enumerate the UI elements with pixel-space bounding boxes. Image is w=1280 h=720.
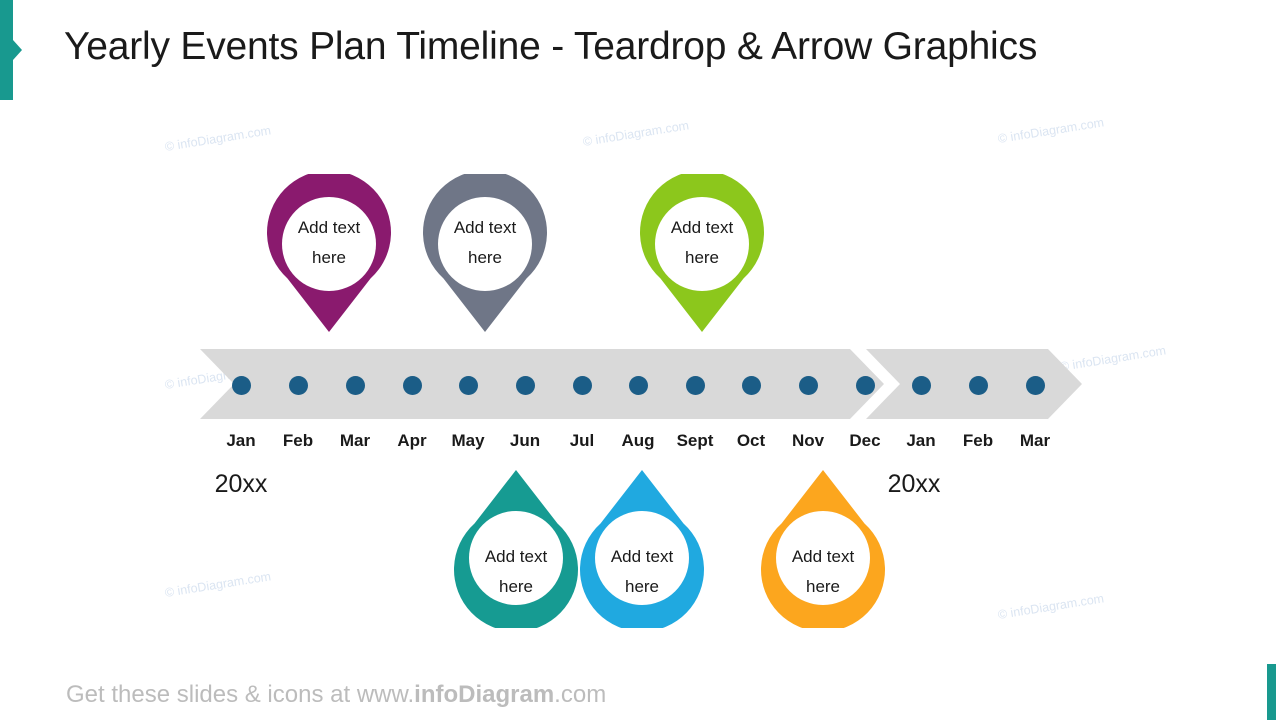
timeline-dot bbox=[629, 376, 648, 395]
timeline-dot bbox=[1026, 376, 1045, 395]
timeline-month-label: Feb bbox=[963, 431, 993, 451]
footer-promo-text: Get these slides & icons at www.infoDiag… bbox=[66, 681, 606, 709]
timeline-month-label: Jan bbox=[906, 431, 935, 451]
pin-gray-teardrop-icon bbox=[415, 174, 555, 336]
timeline-month-label: Jan bbox=[226, 431, 255, 451]
pin-teal-teardrop-icon bbox=[446, 466, 586, 628]
timeline-dot bbox=[289, 376, 308, 395]
footer-suffix: .com bbox=[554, 681, 606, 708]
watermark-text: © infoDiagram.com bbox=[582, 118, 690, 149]
timeline-month-label: Aug bbox=[621, 431, 654, 451]
timeline-month-label: Apr bbox=[397, 431, 426, 451]
timeline-month-label: Mar bbox=[1020, 431, 1050, 451]
footer-prefix: Get these slides & icons at www. bbox=[66, 681, 414, 708]
accent-bar-right bbox=[1267, 664, 1276, 720]
timeline-dot bbox=[856, 376, 875, 395]
pin-green-teardrop-icon bbox=[632, 174, 772, 336]
timeline-dot bbox=[232, 376, 251, 395]
slide-canvas: Yearly Events Plan Timeline - Teardrop &… bbox=[0, 0, 1280, 720]
timeline-dot bbox=[459, 376, 478, 395]
timeline-dot bbox=[742, 376, 761, 395]
timeline-year-label: 20xx bbox=[215, 470, 268, 499]
timeline-month-label: Mar bbox=[340, 431, 370, 451]
pin-orange-teardrop-icon bbox=[753, 466, 893, 628]
timeline-month-label: Jul bbox=[570, 431, 595, 451]
accent-bar-left bbox=[0, 0, 13, 100]
timeline-month-label: Dec bbox=[849, 431, 880, 451]
timeline-dot bbox=[969, 376, 988, 395]
timeline-month-label: Oct bbox=[737, 431, 765, 451]
timeline-dot bbox=[516, 376, 535, 395]
accent-bar-left-notch-icon bbox=[13, 40, 22, 60]
watermark-text: © infoDiagram.com bbox=[997, 115, 1105, 146]
timeline-month-label: Sept bbox=[677, 431, 714, 451]
timeline-dot bbox=[403, 376, 422, 395]
timeline-month-label: Nov bbox=[792, 431, 824, 451]
timeline-month-label: Jun bbox=[510, 431, 540, 451]
timeline-dot bbox=[346, 376, 365, 395]
timeline-dot bbox=[573, 376, 592, 395]
timeline-dot bbox=[912, 376, 931, 395]
watermark-text: © infoDiagram.com bbox=[164, 569, 272, 600]
watermark-text: © infoDiagram.com bbox=[164, 123, 272, 154]
timeline-dot bbox=[686, 376, 705, 395]
page-title: Yearly Events Plan Timeline - Teardrop &… bbox=[64, 25, 1037, 69]
timeline-month-label: Feb bbox=[283, 431, 313, 451]
watermark-text: © infoDiagram.com bbox=[997, 591, 1105, 622]
pin-blue-teardrop-icon bbox=[572, 466, 712, 628]
timeline-dot bbox=[799, 376, 818, 395]
timeline-year-label: 20xx bbox=[888, 470, 941, 499]
pin-purple-teardrop-icon bbox=[259, 174, 399, 336]
footer-brand: infoDiagram bbox=[414, 681, 554, 708]
timeline-month-label: May bbox=[451, 431, 484, 451]
